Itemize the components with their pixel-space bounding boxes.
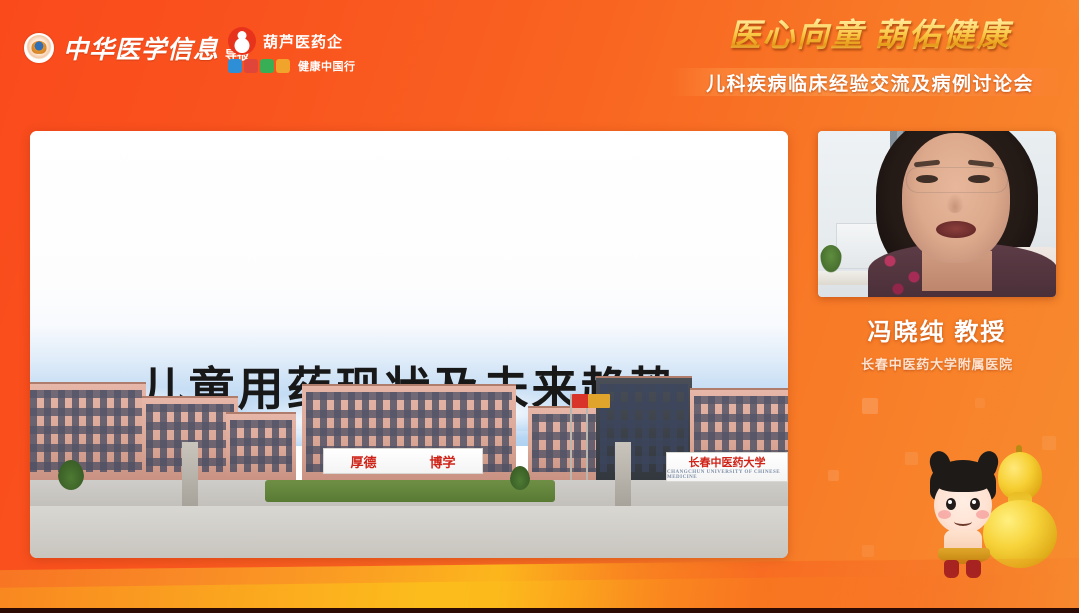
mascot-boot <box>966 560 981 578</box>
mascot-eye <box>970 498 980 510</box>
app-chip-icon <box>276 59 290 73</box>
mascot-cheek <box>976 510 989 519</box>
mascot-boy <box>920 460 1008 578</box>
event-title: 医心向童 葫佑健康 <box>660 12 1079 58</box>
presentation-slide[interactable]: 儿童用药现状及未来趋势 长春中医药大学附属医院 儿童诊疗中心 长春中医药大学附属… <box>30 131 788 558</box>
campus-university-name: 长春中医药大学 <box>689 454 766 470</box>
campus-road <box>30 506 788 558</box>
building-windows <box>230 420 292 472</box>
app-chip-icon <box>228 59 242 73</box>
campus-university-sign: 长春中医药大学 CHANGCHUN UNIVERSITY OF CHINESE … <box>666 452 788 482</box>
bottom-edge <box>0 608 1079 613</box>
mascot-eye <box>946 498 956 510</box>
bokeh-square <box>862 545 874 557</box>
gate-pillar <box>182 442 198 506</box>
cma-seal-icon <box>24 33 54 63</box>
speaker-webcam-image <box>818 131 1056 297</box>
flag <box>588 394 610 408</box>
mascot-bangs <box>936 474 990 492</box>
speaker-nose <box>946 193 964 213</box>
mascot-boot <box>944 560 959 578</box>
logo-primary-wordmark: 中华医学信息 <box>63 30 219 66</box>
speaker-video-panel[interactable] <box>818 131 1056 297</box>
bokeh-square <box>828 470 839 481</box>
building-windows <box>532 414 606 472</box>
broadcast-stage: 中华医学信息 导报 葫芦医药企 健康中国行 医心向童 葫佑健康 儿科疾病临床经验… <box>0 0 1079 613</box>
campus-tree <box>58 460 84 490</box>
event-subtitle-band: 儿科疾病临床经验交流及病例讨论会 <box>670 68 1070 96</box>
speaker-affiliation: 长春中医药大学附属医院 <box>818 354 1056 373</box>
app-chip-icon <box>260 59 274 73</box>
bottom-light-band-secondary <box>0 571 1079 613</box>
campus-building <box>30 382 146 480</box>
speaker-name: 冯晓纯 教授 <box>818 312 1056 347</box>
logo-secondary-tagline: 健康中国行 <box>298 58 356 74</box>
speaker-caption: 冯晓纯 教授 长春中医药大学附属医院 <box>818 312 1056 373</box>
mascot-smile <box>954 517 972 526</box>
campus-photo: 厚德 博学 长春中医药大学 CHANGCHUN UNIVERSITY OF CH… <box>30 348 788 558</box>
campus-building <box>226 412 296 480</box>
campus-motto-right: 博学 <box>429 452 455 471</box>
campus-motto-sign: 厚德 博学 <box>323 448 483 474</box>
speaker-eye <box>968 175 990 183</box>
gate-pillar <box>615 442 631 506</box>
speaker-mouth <box>936 221 976 238</box>
bottom-light-band <box>0 558 1079 613</box>
building-windows <box>30 390 142 472</box>
logo-hulu-pharma: 葫芦医药企 健康中国行 <box>228 27 356 74</box>
campus-motto-left: 厚德 <box>350 452 376 471</box>
mascot-cheek <box>938 510 951 519</box>
logo-secondary-name: 葫芦医药企 <box>263 31 343 52</box>
logo-china-medical-information: 中华医学信息 导报 <box>24 30 249 66</box>
gourd-badge-icon <box>228 27 256 55</box>
bokeh-square <box>905 452 918 465</box>
bokeh-square <box>975 398 985 408</box>
campus-university-name-en: CHANGCHUN UNIVERSITY OF CHINESE MEDICINE <box>667 470 787 480</box>
speaker-eye <box>916 175 938 183</box>
event-subtitle: 儿科疾病临床经验交流及病例讨论会 <box>706 69 1034 96</box>
app-chip-icon <box>244 59 258 73</box>
sponsor-logo-bar: 中华医学信息 导报 葫芦医药企 健康中国行 <box>0 0 660 96</box>
calabash-boy-mascot-icon <box>920 438 1070 588</box>
bokeh-square <box>862 398 878 414</box>
event-title-block: 医心向童 葫佑健康 <box>660 12 1079 58</box>
campus-tree <box>510 466 530 490</box>
